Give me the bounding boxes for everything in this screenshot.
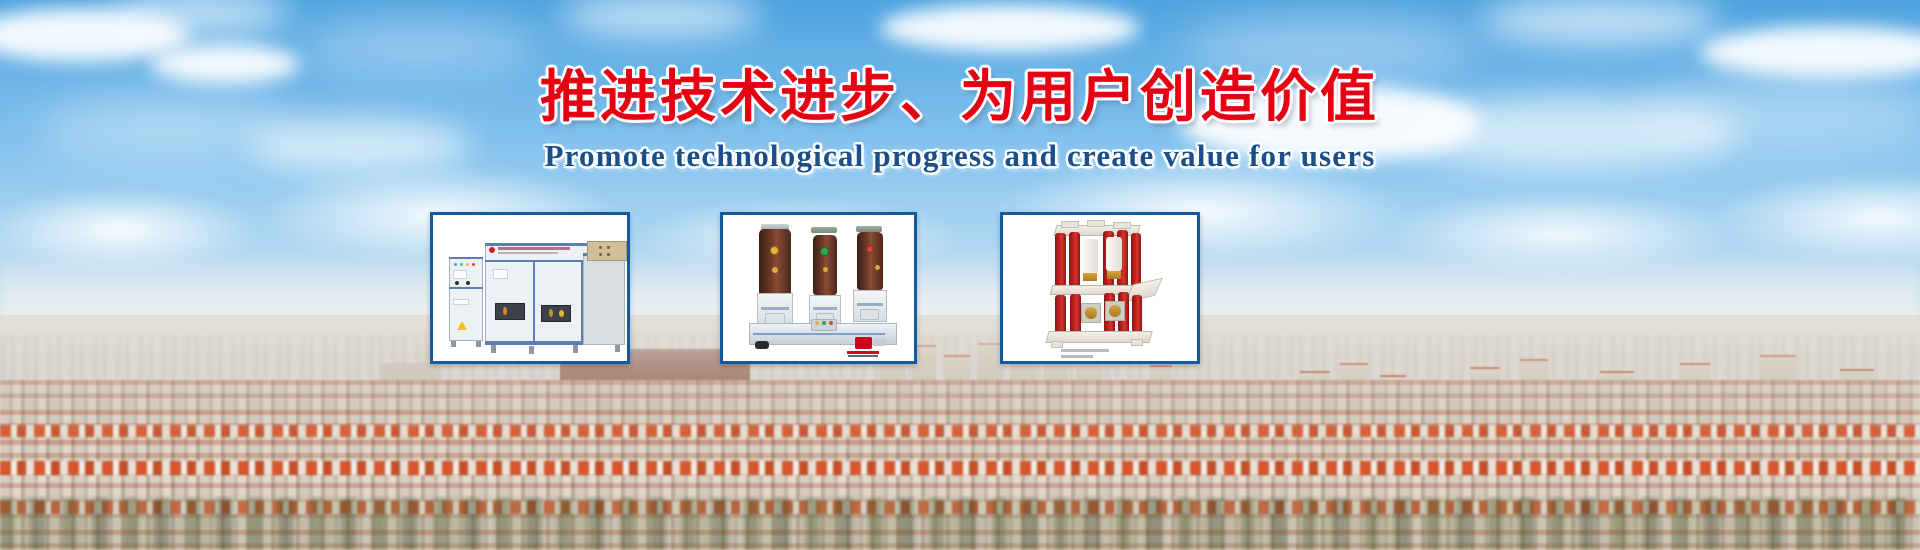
indicator-lamp bbox=[454, 263, 457, 266]
phase-marker-yellow bbox=[770, 246, 779, 255]
cabinet-trim bbox=[485, 243, 589, 246]
control-knob bbox=[455, 281, 459, 285]
product-image-switchgear bbox=[433, 215, 627, 361]
product-image-vacuum-contactor bbox=[1003, 215, 1197, 361]
breaker-terminal bbox=[811, 227, 837, 233]
phase-marker-red bbox=[866, 245, 874, 253]
cabinet-right-section bbox=[583, 253, 625, 345]
promotional-banner: 推进技术进步、为用户创造价值 Promote technological pro… bbox=[0, 0, 1920, 550]
base-foot bbox=[1131, 339, 1143, 346]
contactor-insulator-tube bbox=[1069, 232, 1080, 287]
breaker-insulator bbox=[857, 232, 883, 290]
cabinet-window bbox=[541, 305, 571, 322]
duct-bolt bbox=[607, 246, 610, 249]
indicator-lamp bbox=[466, 263, 469, 266]
breaker-label bbox=[857, 303, 883, 306]
product-image-vacuum-breaker bbox=[723, 215, 914, 361]
product-panel-group bbox=[0, 212, 1920, 367]
breaker-insulator bbox=[759, 229, 791, 295]
terminal-cap bbox=[1061, 221, 1079, 228]
terminal-dot bbox=[829, 321, 833, 325]
terminal-dot bbox=[815, 321, 819, 325]
product-panel-vacuum-breaker[interactable] bbox=[720, 212, 917, 364]
coil-core bbox=[1109, 305, 1121, 317]
product-caption-line bbox=[1061, 349, 1109, 352]
cabinet-door-divider bbox=[533, 262, 535, 341]
terminal-cap bbox=[1087, 220, 1105, 227]
roof-row bbox=[0, 461, 1920, 475]
cabinet-leg bbox=[451, 341, 456, 347]
cabinet-nameplate bbox=[453, 299, 469, 305]
cabinet-window-part bbox=[559, 310, 564, 317]
cloud-shape bbox=[880, 4, 1140, 52]
coil-core bbox=[1085, 307, 1097, 319]
logo-name-zh bbox=[847, 351, 879, 354]
control-knob bbox=[466, 281, 470, 285]
cabinet-main-body bbox=[485, 243, 589, 345]
cabinet-subtitle-text bbox=[498, 252, 558, 254]
terminal-cap bbox=[1113, 222, 1131, 229]
breaker-label bbox=[761, 307, 789, 310]
indicator-lamp bbox=[460, 263, 463, 266]
cabinet-window bbox=[495, 303, 525, 320]
product-panel-switchgear[interactable] bbox=[430, 212, 630, 364]
base-trim bbox=[753, 333, 885, 335]
cabinet-trim bbox=[449, 287, 483, 289]
contact-terminal bbox=[1083, 273, 1097, 281]
warning-triangle-icon bbox=[457, 321, 467, 330]
breaker-label bbox=[813, 307, 837, 310]
contactor-insulator-tube bbox=[1055, 233, 1066, 287]
page-title: 推进技术进步、为用户创造价值 bbox=[0, 52, 1920, 133]
phase-marker-green bbox=[820, 247, 829, 256]
brand-logo-icon bbox=[489, 247, 495, 253]
duct-bolt bbox=[607, 253, 610, 256]
cabinet-nameplate bbox=[493, 269, 508, 279]
roof-row bbox=[0, 425, 1920, 437]
vacuum-interrupter bbox=[1082, 239, 1098, 273]
page-subtitle: Promote technological progress and creat… bbox=[0, 138, 1920, 174]
cabinet-title-text bbox=[498, 247, 570, 250]
cloud-shape bbox=[1480, 0, 1720, 46]
base-foot bbox=[755, 341, 769, 349]
vacuum-interrupter bbox=[1106, 237, 1122, 271]
breaker-insulator bbox=[813, 235, 837, 295]
cabinet-trim bbox=[449, 257, 483, 259]
breaker-indicator bbox=[860, 309, 879, 320]
cabinet-leg bbox=[476, 341, 481, 347]
cloud-shape bbox=[560, 0, 760, 38]
cabinet-leg bbox=[615, 345, 620, 352]
phase-marker bbox=[875, 265, 880, 270]
cabinet-window-part bbox=[503, 307, 507, 315]
contact-terminal bbox=[1107, 271, 1121, 279]
duct-bolt bbox=[599, 253, 602, 256]
duct-bolt bbox=[599, 246, 602, 249]
cabinet-leg bbox=[491, 345, 496, 353]
cabinet-trim bbox=[485, 260, 589, 262]
cabinet-window-part bbox=[549, 309, 553, 317]
logo-tagline bbox=[848, 355, 878, 357]
contactor-insulator-tube bbox=[1131, 233, 1141, 287]
tree-band bbox=[0, 498, 1920, 550]
base-foot bbox=[1051, 341, 1063, 348]
product-caption-line bbox=[1061, 355, 1093, 358]
phase-marker bbox=[823, 267, 828, 272]
terminal-dot bbox=[822, 321, 826, 325]
control-display bbox=[453, 270, 467, 279]
product-panel-vacuum-contactor[interactable] bbox=[1000, 212, 1200, 364]
cabinet-leg bbox=[573, 345, 578, 353]
phase-marker bbox=[772, 267, 778, 273]
logo-mark-icon bbox=[855, 337, 872, 349]
busbar-duct bbox=[587, 241, 627, 261]
manufacturer-logo bbox=[846, 337, 880, 357]
indicator-lamp bbox=[472, 263, 475, 266]
cabinet-leg bbox=[529, 346, 534, 354]
